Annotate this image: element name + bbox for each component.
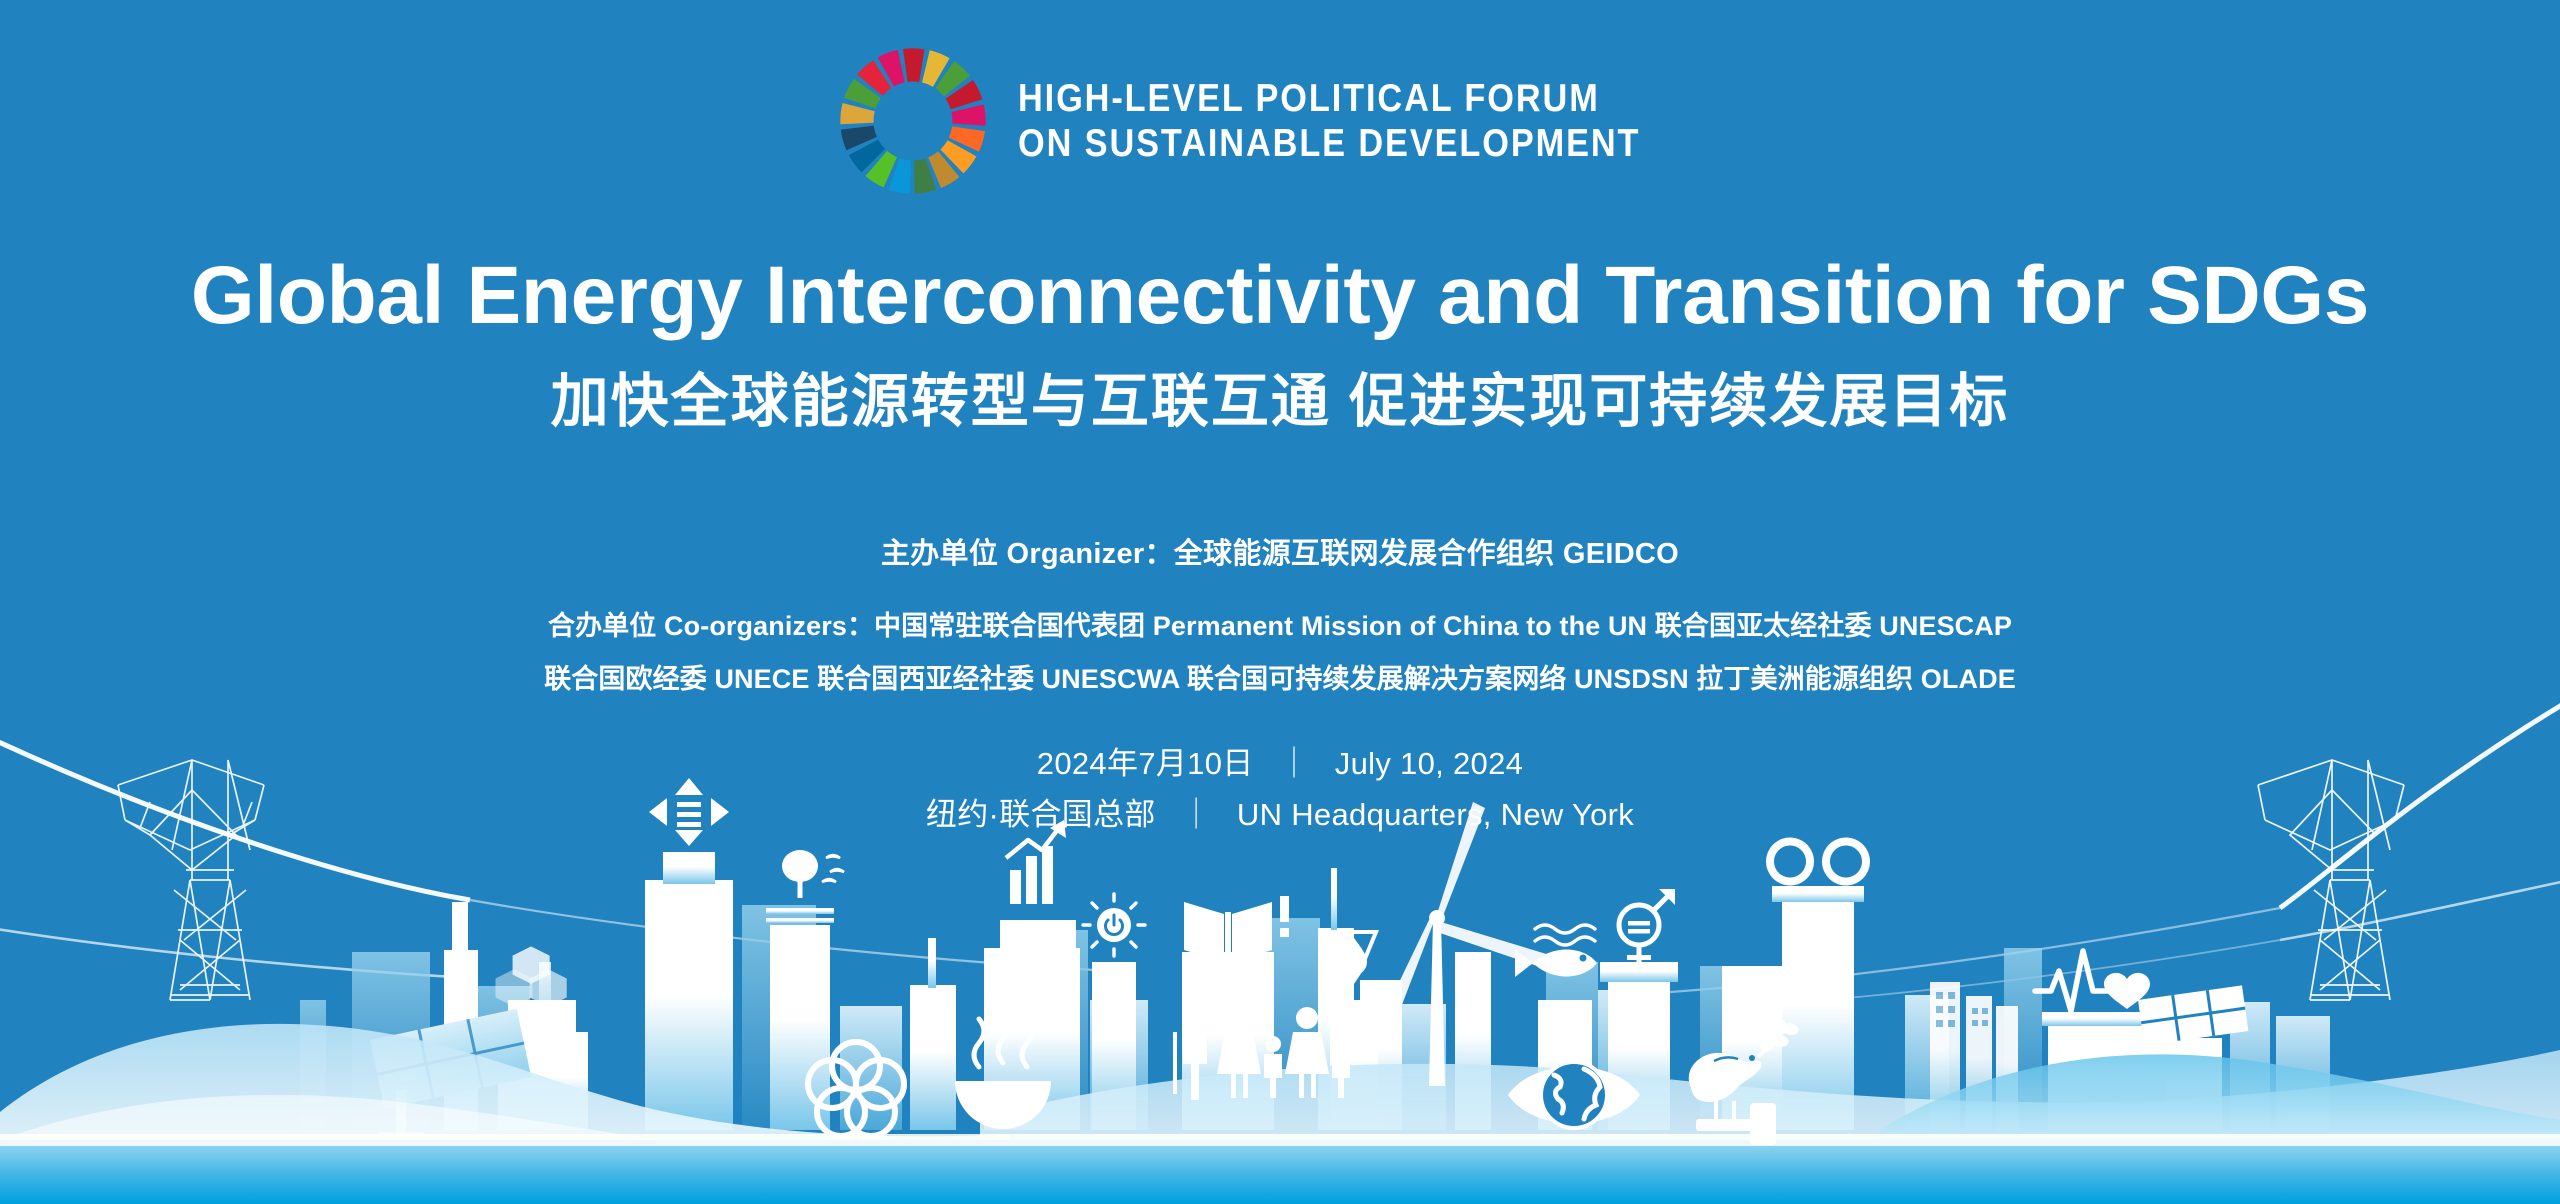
sdg-wheel-segment: [903, 48, 924, 82]
page-title-chinese: 加快全球能源转型与互联互通 促进实现可持续发展目标: [0, 370, 2560, 434]
venue-separator: ｜: [1165, 789, 1228, 834]
co-organizers-line-2: 联合国欧经委 UNECE 联合国西亚经社委 UNESCWA 联合国可持续发展解决…: [0, 657, 2560, 696]
event-venue-chinese: 纽约·联合国总部: [926, 797, 1156, 832]
event-date-chinese: 2024年7月10日: [1037, 746, 1254, 781]
co-organizers-line-1: 合办单位 Co-organizers：中国常驻联合国代表团 Permanent …: [0, 604, 2560, 643]
sdg-color-wheel-icon: [834, 42, 992, 200]
logo-line-1: HIGH-LEVEL POLITICAL FORUM: [1018, 76, 1640, 121]
event-date-line: 2024年7月10日 ｜ July 10, 2024: [0, 738, 2560, 783]
page-title-english: Global Energy Interconnectivity and Tran…: [0, 253, 2560, 339]
poster-canvas: HIGH-LEVEL POLITICAL FORUM ON SUSTAINABL…: [0, 0, 2560, 1204]
date-separator: ｜: [1263, 738, 1326, 783]
organizer-line: 主办单位 Organizer：全球能源互联网发展合作组织 GEIDCO: [0, 530, 2560, 572]
event-venue-english: UN Headquarters, New York: [1237, 797, 1634, 832]
hlpf-logo-lockup: HIGH-LEVEL POLITICAL FORUM ON SUSTAINABL…: [0, 42, 2560, 200]
event-venue-line: 纽约·联合国总部 ｜ UN Headquarters, New York: [0, 789, 2560, 834]
logo-line-2: ON SUSTAINABLE DEVELOPMENT: [1018, 121, 1640, 166]
event-date-english: July 10, 2024: [1335, 746, 1523, 781]
hlpf-logo-wordmark: HIGH-LEVEL POLITICAL FORUM ON SUSTAINABL…: [1018, 76, 1640, 166]
sdg-wheel-segment: [952, 104, 986, 125]
